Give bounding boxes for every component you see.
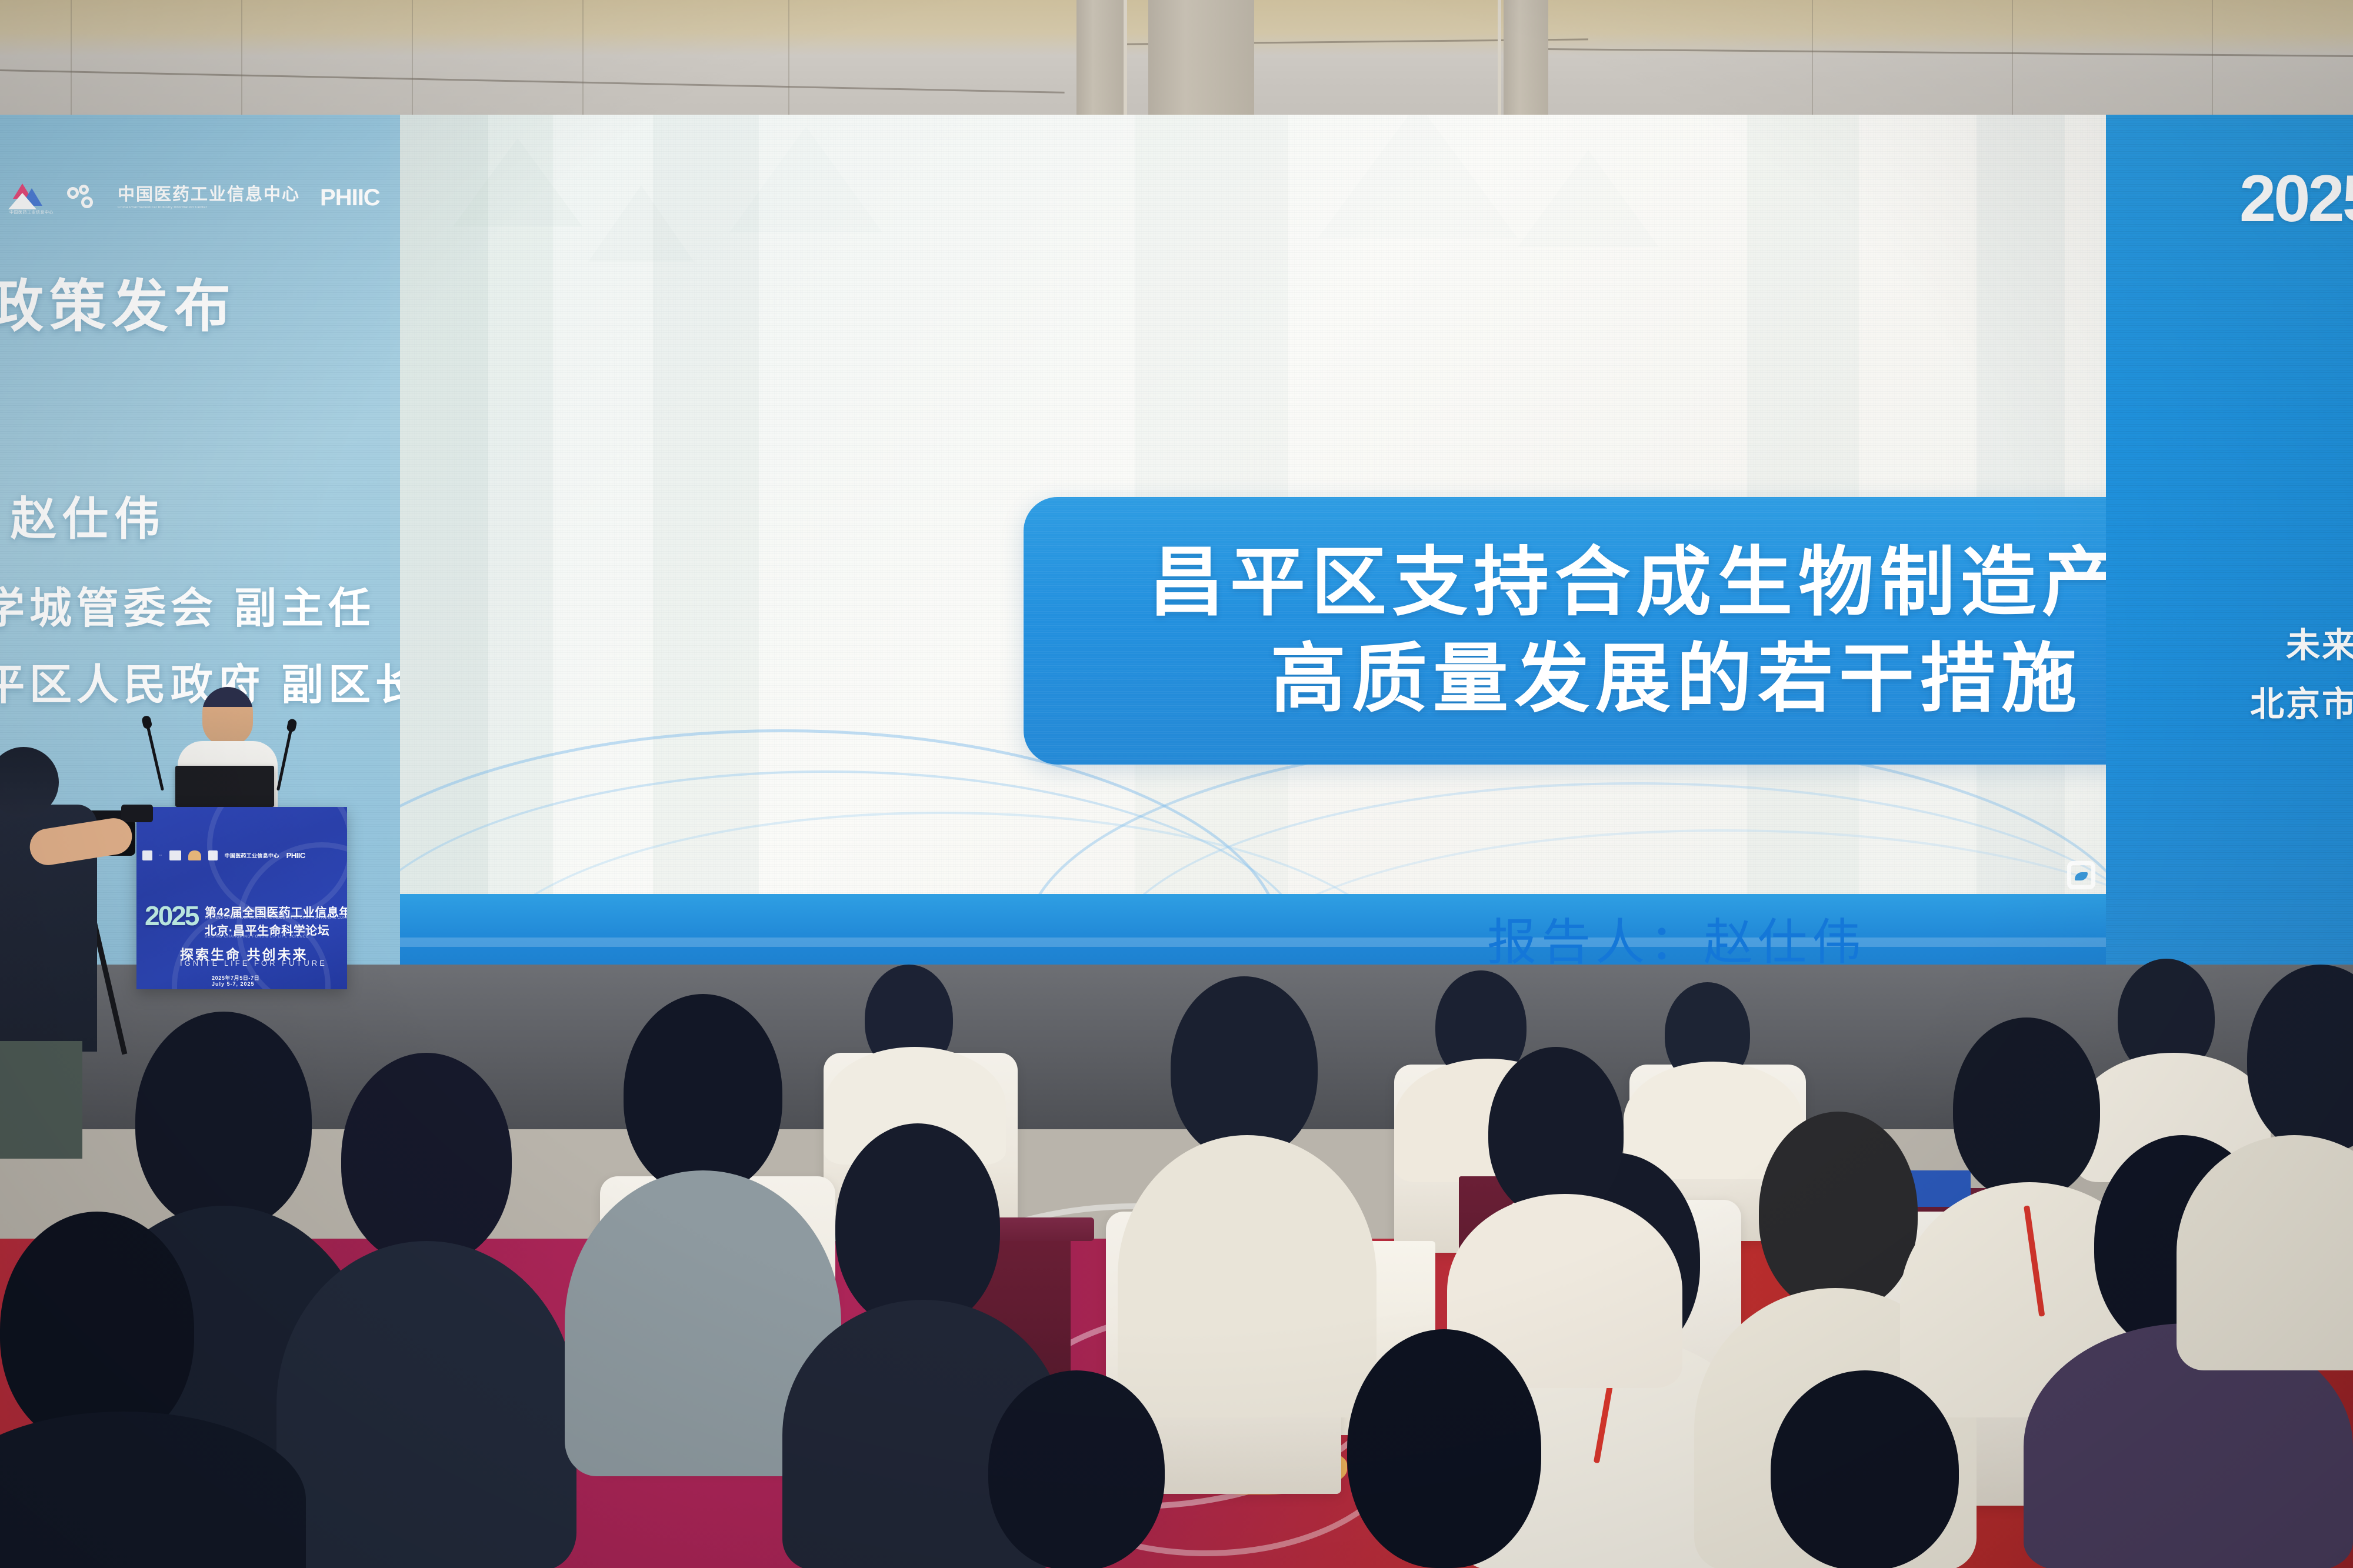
podium-with-banner: ·· 中国医药工业信息中心 PHIIC 2025 第42届全国医药工业信息年会 …: [136, 807, 347, 989]
policy-release-heading: 政策发布: [0, 261, 236, 342]
podium-phiic-logo: PHIIC: [286, 851, 305, 860]
attendee-head: [341, 1053, 512, 1265]
right-panel-line-2: 北京市: [2250, 676, 2353, 726]
slide-title-line-2: 高质量发展的若干措施: [1271, 631, 2082, 728]
attendee-head: [1488, 1047, 1624, 1217]
attendee-head-foreground: [1771, 1370, 1959, 1568]
right-panel-line-1: 未来: [2286, 618, 2353, 667]
camera-viewfinder: [121, 805, 153, 822]
attendee-head: [1759, 1112, 1918, 1312]
attendee-shoulders: [276, 1241, 576, 1568]
operator-legs: [0, 1041, 82, 1159]
attendee-head-foreground: [1347, 1329, 1541, 1568]
podium-laptop: [175, 766, 274, 807]
left-panel-speaker-name: 赵仕伟: [11, 482, 166, 548]
podium-year: 2025: [145, 900, 198, 932]
podium-date-en: July 5-7, 2025: [212, 981, 255, 987]
podium-title-en: THE 42ND CHINA PHARMACEUTICAL INDUSTRY I…: [205, 916, 347, 920]
org-name-en: China Pharmaceutical Industry Informatio…: [118, 206, 300, 209]
attendee-head: [135, 1012, 312, 1229]
phiic-logo: PHIIC: [320, 185, 380, 211]
right-panel-year-logo: 2025: [2239, 161, 2353, 236]
podium-slogan-en: IGNITE LIFE FOR FUTURE: [180, 959, 327, 968]
slide-title-line-1: 昌平区支持合成生物制造产业: [1149, 535, 2204, 631]
main-led-screen: 昌平区支持合成生物制造产业 高质量发展的若干措施 报告人：赵仕伟 2025 未来…: [400, 115, 2353, 982]
molecule-logo-icon: [67, 185, 98, 211]
conference-hall-photo: 中国医药工业信息中心 中国医药工业信息中心 China Pharmaceutic…: [0, 0, 2353, 1568]
triangle-logo-icon: 中国医药工业信息中心: [8, 182, 47, 213]
speaker-head: [202, 687, 253, 746]
attendee-head-foreground: [0, 1212, 194, 1447]
attendee-head-foreground: [988, 1370, 1165, 1568]
attendee-head: [624, 994, 782, 1194]
org-name-cn: 中国医药工业信息中心 China Pharmaceutical Industry…: [118, 186, 300, 209]
slide-corner-mark-icon: [2067, 861, 2095, 889]
attendee-shoulders: [1118, 1135, 1377, 1417]
attendee-head: [835, 1123, 1000, 1329]
triangle-logo-caption: 中国医药工业信息中心: [9, 209, 54, 215]
attendee-head: [1171, 976, 1318, 1159]
left-panel-logo-strip: 中国医药工业信息中心 中国医药工业信息中心 China Pharmaceutic…: [8, 182, 380, 213]
right-screen-panel: 2025 未来 北京市: [2106, 115, 2353, 982]
left-panel-speaker-role-1: 学城管委会 副主任: [0, 573, 375, 635]
podium-subtitle-en: BEIJING CHANGPING FORUM ON LIFE SCIENCE: [205, 935, 309, 939]
camera-operator: [0, 735, 147, 1159]
podium-org-name: 中国医药工业信息中心: [225, 852, 279, 859]
podium-logo-strip: ·· 中国医药工业信息中心 PHIIC: [142, 850, 305, 860]
attendee-head: [1953, 1017, 2100, 1200]
